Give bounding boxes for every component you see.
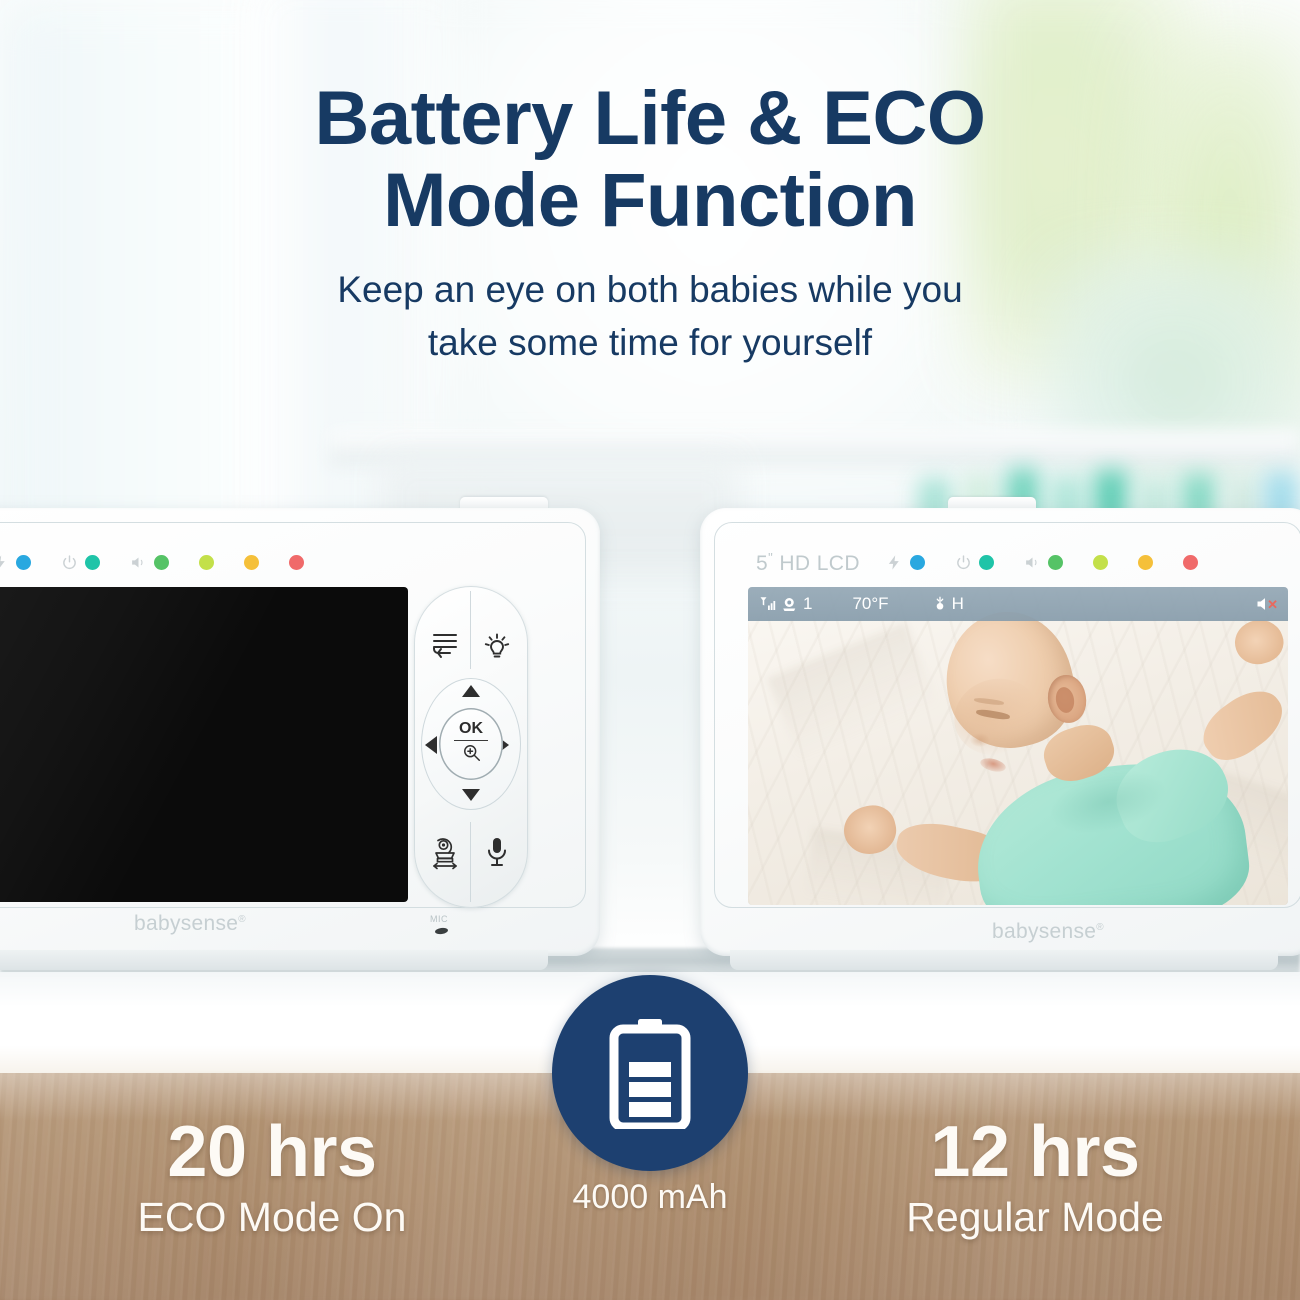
baby-monitor-right[interactable]: 5" HD LCD (700, 508, 1300, 956)
ok-divider (454, 740, 488, 742)
control-divider-bottom (470, 822, 471, 902)
led-dot-sound-2 (199, 555, 214, 570)
baby-nose (970, 733, 990, 747)
control-pad[interactable]: OK (414, 586, 528, 908)
camera-pan-button[interactable] (422, 826, 468, 878)
subtitle-line-2: take some time for yourself (0, 317, 1300, 370)
directional-pad[interactable]: OK (421, 678, 521, 810)
led-dot-charging (16, 555, 31, 570)
stat-eco-mode: 20 hrs ECO Mode On (42, 1116, 502, 1242)
stat-label-eco: ECO Mode On (42, 1192, 502, 1242)
video-status-bar: 1 70°F H ✕ (748, 587, 1288, 621)
humidity-bulb-icon (931, 595, 949, 613)
arrow-up-icon[interactable] (460, 684, 482, 698)
camera-icon (781, 595, 799, 613)
temperature-reading: 70°F (852, 594, 888, 614)
led-power (955, 554, 994, 571)
brand-tm: ® (238, 914, 246, 925)
brand-text: babysense (134, 912, 238, 935)
monitor-base-left (0, 950, 548, 970)
screen-type-label: HD LCD (773, 552, 860, 575)
power-icon (61, 554, 78, 571)
led-indicator-strip-right (886, 549, 1198, 575)
brand-text: babysense (992, 920, 1096, 943)
control-divider-top (470, 591, 471, 669)
led-dot-sound-2 (1093, 555, 1108, 570)
led-dot-sound-4 (1183, 555, 1198, 570)
live-video-feed (748, 587, 1288, 905)
zoom-icon (462, 743, 481, 767)
night-light-button[interactable] (474, 622, 520, 670)
talk-back-button[interactable] (474, 826, 520, 878)
led-sound-1 (130, 554, 169, 571)
mute-cross: ✕ (1267, 597, 1278, 613)
battery-icon (607, 1017, 693, 1129)
led-sound-1 (1024, 554, 1063, 571)
signal-indicator: 1 (759, 594, 812, 614)
title-line-1: Battery Life & ECO (0, 78, 1300, 160)
page-subtitle: Keep an eye on both babies while you tak… (0, 264, 1300, 369)
humidity-label: H (952, 594, 964, 614)
title-line-2: Mode Function (0, 160, 1300, 242)
ok-label: OK (459, 721, 483, 737)
led-dot-sound-4 (289, 555, 304, 570)
monitor-base-right (730, 950, 1278, 970)
led-dot-sound-1 (1048, 555, 1063, 570)
brand-tm: ® (1096, 922, 1104, 933)
led-dot-sound-3 (244, 555, 259, 570)
led-dot-sound-1 (154, 555, 169, 570)
screen-size-label: 5" HD LCD (756, 550, 860, 576)
arrow-left-icon[interactable] (424, 734, 438, 756)
baby-monitor-left[interactable]: OK (0, 508, 600, 956)
led-indicator-strip-left (0, 549, 304, 575)
charging-bolt-icon (886, 554, 903, 571)
monitor-screen-right-live[interactable]: 1 70°F H ✕ (748, 587, 1288, 905)
headline-block: Battery Life & ECO Mode Function Keep an… (0, 78, 1300, 369)
signal-icon (759, 595, 777, 613)
brand-logo-left: babysense® (134, 912, 246, 936)
led-charging (0, 554, 31, 571)
arrow-down-icon[interactable] (460, 788, 482, 802)
speaker-icon (130, 554, 147, 571)
charging-bolt-icon (0, 554, 9, 571)
mic-label: MIC (430, 914, 448, 924)
speaker-icon (1024, 554, 1041, 571)
subtitle-line-1: Keep an eye on both babies while you (0, 264, 1300, 317)
stat-regular-mode: 12 hrs Regular Mode (800, 1116, 1270, 1242)
brand-logo-right: babysense® (992, 920, 1104, 944)
battery-capacity-badge (552, 975, 748, 1171)
ok-button[interactable]: OK (439, 708, 503, 780)
power-icon (955, 554, 972, 571)
muted-speaker-icon[interactable]: ✕ (1255, 594, 1277, 614)
led-dot-power (85, 555, 100, 570)
battery-capacity-label: 4000 mAh (502, 1178, 798, 1217)
led-dot-sound-3 (1138, 555, 1153, 570)
humidity-indicator: H (931, 594, 964, 614)
stat-value-eco: 20 hrs (42, 1116, 502, 1188)
led-power (61, 554, 100, 571)
led-dot-charging (910, 555, 925, 570)
page-title: Battery Life & ECO Mode Function (0, 78, 1300, 242)
stat-value-regular: 12 hrs (800, 1116, 1270, 1188)
monitor-screen-left-off[interactable] (0, 587, 408, 902)
screen-size-number: 5 (756, 552, 768, 575)
camera-number: 1 (803, 594, 812, 614)
product-feature-image: Battery Life & ECO Mode Function Keep an… (0, 0, 1300, 1300)
menu-back-button[interactable] (422, 622, 468, 670)
led-dot-power (979, 555, 994, 570)
stat-label-regular: Regular Mode (800, 1192, 1270, 1242)
led-charging (886, 554, 925, 571)
